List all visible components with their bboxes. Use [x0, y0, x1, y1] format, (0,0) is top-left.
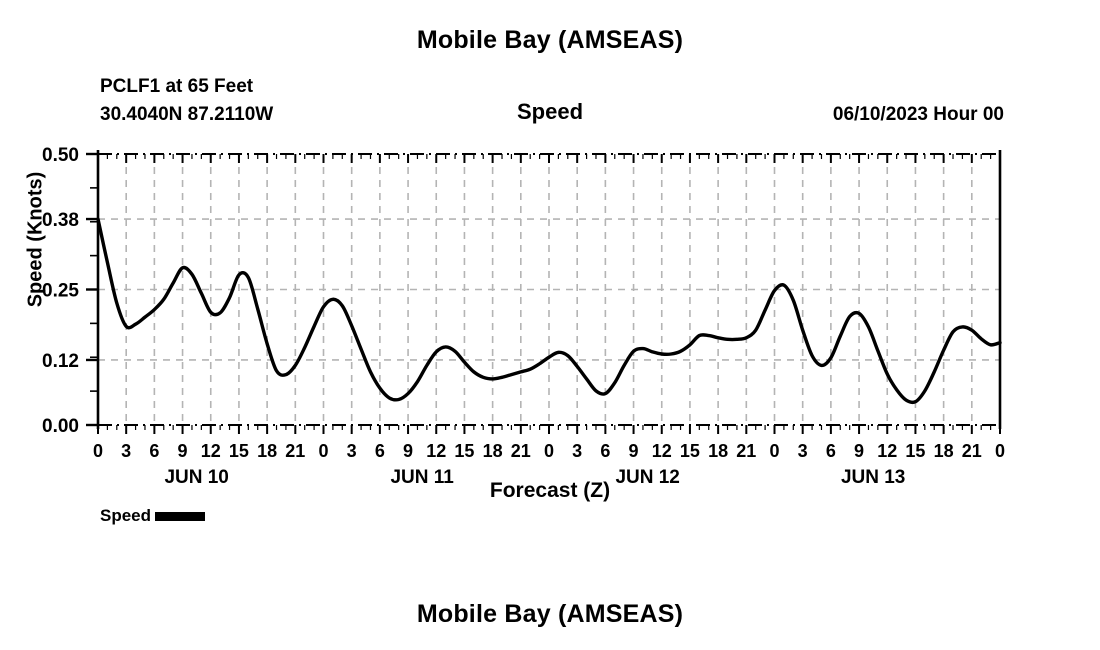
speed-line-chart: 0369121518210369121518210369121518210369… — [0, 0, 1100, 650]
x-tick-label: 0 — [544, 441, 554, 461]
x-tick-label: 15 — [229, 441, 249, 461]
y-tick-label: 0.50 — [42, 145, 79, 166]
x-tick-label: 12 — [201, 441, 221, 461]
y-tick-label: 0.25 — [42, 281, 79, 302]
x-tick-label: 12 — [652, 441, 672, 461]
x-tick-label: 9 — [629, 441, 639, 461]
x-tick-label: 0 — [93, 441, 103, 461]
legend-swatch-speed — [155, 512, 205, 521]
x-tick-label: 0 — [995, 441, 1005, 461]
legend: Speed — [100, 506, 205, 526]
x-tick-label: 15 — [905, 441, 925, 461]
y-tick-label: 0.38 — [42, 210, 79, 231]
x-axis-title: Forecast (Z) — [0, 479, 1100, 503]
x-tick-label: 21 — [285, 441, 305, 461]
x-tick-label: 0 — [318, 441, 328, 461]
x-tick-label: 9 — [854, 441, 864, 461]
x-tick-label: 3 — [347, 441, 357, 461]
y-axis-title: Speed (Knots) — [25, 170, 48, 310]
plot-area: 0369121518210369121518210369121518210369… — [0, 0, 1100, 650]
x-tick-label: 3 — [121, 441, 131, 461]
x-tick-label: 9 — [403, 441, 413, 461]
x-tick-label: 12 — [877, 441, 897, 461]
x-tick-label: 21 — [736, 441, 756, 461]
x-tick-label: 6 — [826, 441, 836, 461]
x-tick-label: 15 — [454, 441, 474, 461]
x-tick-label: 18 — [934, 441, 954, 461]
x-tick-label: 18 — [483, 441, 503, 461]
x-tick-label: 15 — [680, 441, 700, 461]
x-tick-label: 18 — [257, 441, 277, 461]
y-tick-label: 0.12 — [42, 351, 79, 372]
legend-label-speed: Speed — [100, 506, 151, 526]
x-tick-label: 3 — [798, 441, 808, 461]
x-tick-label: 6 — [600, 441, 610, 461]
x-tick-label: 18 — [708, 441, 728, 461]
x-tick-label: 0 — [769, 441, 779, 461]
x-tick-label: 21 — [962, 441, 982, 461]
x-tick-label: 12 — [426, 441, 446, 461]
x-tick-label: 6 — [149, 441, 159, 461]
x-tick-label: 3 — [572, 441, 582, 461]
x-tick-label: 9 — [178, 441, 188, 461]
y-tick-label: 0.00 — [42, 416, 79, 437]
x-tick-label: 21 — [511, 441, 531, 461]
chart-page: Mobile Bay (AMSEAS) PCLF1 at 65 Feet 30.… — [0, 0, 1100, 650]
page-title-bottom: Mobile Bay (AMSEAS) — [0, 600, 1100, 629]
x-tick-label: 6 — [375, 441, 385, 461]
